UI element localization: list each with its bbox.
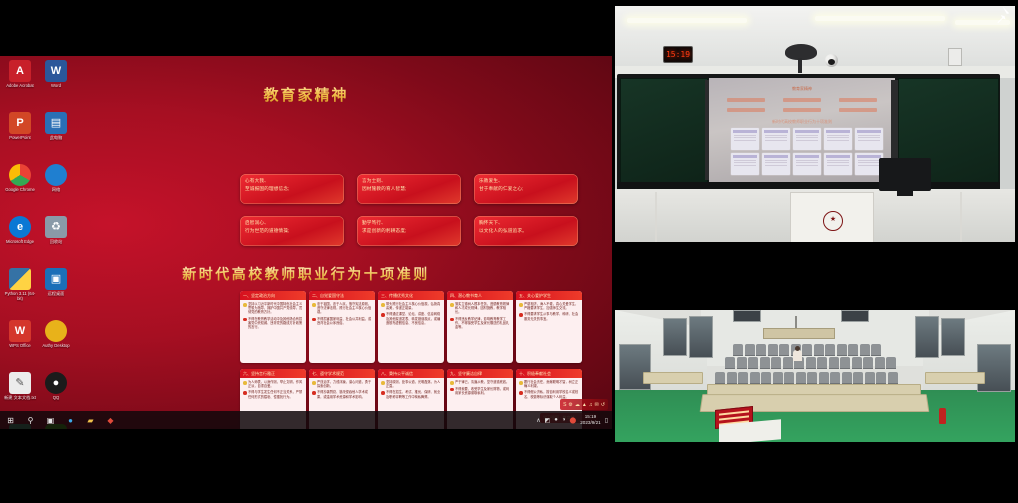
rule-text: 带头践行社会主义核心价值观，弘扬真善美，传递正能量。: [386, 302, 441, 310]
projected-rule-card: [762, 153, 790, 175]
edge-icon: e: [9, 216, 31, 238]
taskbar-left-group: ⊞ ⚲ ▣ ● ▰ ◆: [0, 415, 116, 426]
desktop-icon[interactable]: 网络: [39, 162, 73, 204]
tray-chevron-icon[interactable]: ∧: [536, 417, 540, 424]
projected-card: [783, 98, 821, 102]
remote-desktop-icon: ▣: [45, 268, 67, 290]
led-clock-time: 15:19: [666, 50, 690, 59]
spirit-line: 至诚报国的理想信念;: [245, 185, 339, 193]
rule-head: 一、坚定政治方向: [240, 291, 306, 300]
rule-text: 忠于祖国，忠于人民，恪守宪法原则，遵守法律法规，践行社会主义核心价值观。: [317, 302, 372, 315]
projected-card: [839, 98, 877, 102]
seat: [748, 357, 758, 368]
rule-head: 五、关心爱护学生: [516, 291, 582, 300]
seat: [886, 357, 896, 368]
chalkboard-left: [620, 78, 708, 185]
seat: [760, 357, 770, 368]
seat: [830, 372, 840, 383]
bullet-icon: [381, 303, 385, 307]
projected-rule-card: [762, 128, 790, 150]
spirit-line: 以文化人的弘道追求。: [479, 227, 573, 235]
seat: [768, 344, 778, 355]
rule-body: 落实立德树人根本任务，遵循教育规律和人才成长规律，因材施教，教学相长。 不得违反…: [447, 300, 513, 363]
bullet-icon: [519, 381, 523, 385]
icon-label: QQ: [39, 395, 73, 400]
led-wall-clock: 15:19: [663, 46, 693, 63]
authy-icon: [45, 320, 67, 342]
classroom-rear-scene: [615, 310, 1015, 442]
bullet-icon: [450, 388, 454, 392]
seat: [733, 344, 743, 355]
wall-pipe: [655, 192, 657, 242]
seat: [837, 344, 847, 355]
projected-title: 教育家精神: [709, 86, 895, 92]
icon-label: Word: [39, 83, 73, 88]
toolbar-icon-6[interactable]: ↺: [601, 402, 605, 408]
rule-head: 十、积极奉献社会: [516, 369, 582, 378]
seat: [829, 357, 839, 368]
rule-text: 不得与学生发生任何不正当关系，严禁任何形式的猥亵、性骚扰行为。: [248, 390, 303, 398]
spirit-line: 求是创新的躬耕态度;: [362, 227, 456, 235]
bullet-icon: [312, 318, 316, 322]
side-desk: [925, 372, 985, 384]
bullet-icon: [312, 391, 316, 395]
seat: [814, 344, 824, 355]
bullet-icon: [243, 303, 247, 307]
toolbar-icon-5[interactable]: ✉: [595, 402, 599, 408]
spirit-card: 言为士则、 因材施教的育人智慧;: [357, 174, 461, 204]
spirit-line: 启智润心、: [245, 219, 339, 227]
task-view-icon[interactable]: ▣: [45, 415, 56, 426]
wall-window: [663, 318, 687, 356]
projected-rule-card: [855, 128, 883, 150]
fire-extinguisher: [939, 408, 946, 424]
spirit-line: 因材施教的育人智慧;: [362, 185, 456, 193]
rule-text: 坚持原则，处事公道，光明磊落，为人正直。: [386, 380, 441, 388]
wps-office-icon: W: [9, 320, 31, 342]
seat: [848, 344, 858, 355]
rule-card: 三、传播优秀文化 带头践行社会主义核心价值观，弘扬真善美，传递正能量。 不得通过…: [378, 291, 444, 363]
rule-text: 不得索要、收受学生及家长财物，或利用家长资源谋取私利。: [455, 387, 510, 395]
wall-window: [915, 316, 939, 358]
file-explorer-icon[interactable]: ▰: [85, 415, 96, 426]
search-icon[interactable]: ⚲: [25, 415, 36, 426]
bullet-icon: [312, 303, 316, 307]
speaker-stem: [798, 58, 802, 73]
clock-date: 2023/9/21: [580, 420, 600, 426]
seat: [863, 357, 873, 368]
rule-text: 不得损害国家利益、社会公共利益，或违背社会公序良俗。: [317, 317, 372, 325]
spirit-line: 言为士则、: [362, 177, 456, 185]
desktop-icon[interactable]: eMicrosoft Edge: [3, 214, 37, 256]
bullet-icon: [312, 381, 316, 385]
seat: [888, 372, 898, 383]
icon-label: PowerPoint: [3, 135, 37, 140]
spirit-line: 勤学笃行、: [362, 219, 456, 227]
seat: [860, 344, 870, 355]
rule-body: 严慈相济，诲人不倦，真心关爱学生，严格要求学生，加强师生交流。 不得要求学生从事…: [516, 300, 582, 363]
lectern: ★: [790, 192, 874, 242]
seat: [852, 357, 862, 368]
projected-card: [727, 108, 765, 112]
icon-label: WPS Office: [3, 343, 37, 348]
bullet-icon: [450, 303, 454, 307]
seat: [819, 372, 829, 383]
recycle-bin-icon: ♻: [45, 216, 67, 238]
rule-head: 七、遵守学术规范: [309, 369, 375, 378]
wall-window: [689, 316, 713, 358]
spirit-card: 胸怀天下、 以文化人的弘道追求。: [474, 216, 578, 246]
bullet-icon: [381, 313, 385, 317]
rule-text: 不得假公济私，擅自利用学校名义或校名、校徽等标识谋取个人利益。: [524, 390, 579, 398]
rule-text: 严慈相济，诲人不倦，真心关爱学生，严格要求学生，加强师生交流。: [524, 302, 579, 310]
icon-label: 此电脑: [39, 135, 73, 140]
spirit-card: 心有大我、 至诚报国的理想信念;: [240, 174, 344, 204]
icon-label: Python 3.11 (64-bit): [3, 291, 37, 301]
projected-rule-card: [731, 153, 759, 175]
spirit-card: 勤学笃行、 求是创新的躬耕态度;: [357, 216, 461, 246]
projected-rule-card: [793, 128, 821, 150]
rule-card: 四、潜心教书育人 落实立德树人根本任务，遵循教育规律和人才成长规律，因材施教，教…: [447, 291, 513, 363]
bullet-icon: [450, 381, 454, 385]
wall-switch-panel: [948, 48, 962, 66]
bullet-icon: [519, 391, 523, 395]
pushpin-icon[interactable]: [991, 5, 1011, 25]
rule-text: 严谨治学，力戒浮躁，潜心问道，勇于探索创新。: [317, 380, 372, 388]
projection-screen: 教育家精神 新时代高校教师职业行为十项准则: [709, 78, 895, 183]
classroom-front-scene: 15:19 教育家精神 新时代高校: [615, 6, 1015, 242]
icon-label: Adobe Acrobat: [3, 83, 37, 88]
rule-card: 二、自觉爱国守法 忠于祖国，忠于人民，恪守宪法原则，遵守法律法规，践行社会主义核…: [309, 291, 375, 363]
toolbar-icon-4[interactable]: ♫: [589, 402, 593, 408]
edge-icon[interactable]: ●: [65, 415, 76, 426]
icon-label: 网络: [39, 187, 73, 192]
board-ledge: [617, 182, 1000, 189]
icon-label: 回收站: [39, 239, 73, 244]
teacher-desk: [763, 328, 835, 339]
projected-subtitle: 新时代高校教师职业行为十项准则: [709, 119, 895, 125]
powerpoint-icon: P: [9, 112, 31, 134]
icon-label: Microsoft Edge: [3, 239, 37, 244]
rule-text: 不得违反教学纪律，影响教育教学工作，不得接受学生及家长赠送的礼品礼金等。: [455, 317, 510, 330]
projected-rule-card: [824, 153, 852, 175]
rule-text: 不得抄袭剽窃、篡改侵吞他人学术成果，或滥用学术资源和学术影响。: [317, 390, 372, 398]
seat-row: [715, 372, 898, 383]
seat: [825, 344, 835, 355]
desktop-icon[interactable]: Python 3.11 (64-bit): [3, 266, 37, 308]
seat: [783, 357, 793, 368]
seat: [727, 372, 737, 383]
desktop-icon[interactable]: Authy Desktop: [39, 318, 73, 360]
icon-label: Google Chrome: [3, 187, 37, 192]
desktop-icon[interactable]: ▣远程桌面: [39, 266, 73, 308]
desktop-icon[interactable]: Google Chrome: [3, 162, 37, 204]
windows-desktop[interactable]: 教育家精神 心有大我、 至诚报国的理想信念; 言为士则、 因材施教的育人智慧; …: [0, 56, 612, 429]
monitoring-view: 教育家精神 心有大我、 至诚报国的理想信念; 言为士则、 因材施教的育人智慧; …: [0, 0, 1018, 503]
seat: [784, 372, 794, 383]
toolbar-icon-3[interactable]: ▲: [582, 402, 587, 408]
bullet-icon: [381, 391, 385, 395]
seat: [840, 357, 850, 368]
seat: [779, 344, 789, 355]
seat: [715, 372, 725, 383]
spirit-card-grid: 心有大我、 至诚报国的理想信念; 言为士则、 因材施教的育人智慧; 乐教爱生、 …: [240, 174, 578, 246]
seat: [796, 372, 806, 383]
projected-card: [727, 98, 765, 102]
ceiling-camera-icon: [825, 54, 838, 67]
taskbar-system-tray[interactable]: ∧ ◩ ● ◑ ⬤ 15:19 2023/9/21 ▯ S ⚙ ☁ ▲: [536, 414, 612, 426]
spirit-line: 胸怀天下、: [479, 219, 573, 227]
rule-card: 一、坚定政治方向 坚持以习近平新时代中国特色社会主义思想为指导，拥护中国共产党领…: [240, 291, 306, 363]
seat: [761, 372, 771, 383]
desktop-icon[interactable]: ♻回收站: [39, 214, 73, 256]
seat-row: [725, 357, 896, 368]
spirit-card: 启智润心、 行为世范的道德情操;: [240, 216, 344, 246]
rule-text: 不得在教育教学活动中及其他场合有损害党中央权威、违背党的路线方针政策的言行。: [248, 317, 303, 330]
classroom-front-camera[interactable]: 15:19 教育家精神 新时代高校: [612, 0, 1018, 246]
seat: [773, 372, 783, 383]
tray-volume-icon[interactable]: ●: [554, 417, 558, 423]
desktop-stream-pane: 教育家精神 心有大我、 至诚报国的理想信念; 言为士则、 因材施教的育人智慧; …: [0, 0, 612, 503]
start-button[interactable]: ⊞: [5, 415, 16, 426]
slide-title: 教育家精神: [0, 84, 612, 105]
icon-label: Authy Desktop: [39, 343, 73, 348]
rule-head: 四、潜心教书育人: [447, 291, 513, 300]
projected-card: [839, 108, 877, 112]
seat: [802, 344, 812, 355]
rule-text: 严于律己，清廉从教，坚守道德底线。: [455, 380, 509, 385]
windows-taskbar[interactable]: ⊞ ⚲ ▣ ● ▰ ◆ ∧ ◩ ● ◑ ⬤ 15:19 2023/9/21: [0, 411, 612, 429]
tray-app-icon[interactable]: ◑: [562, 417, 566, 423]
spirit-card: 乐教爱生、 甘于奉献的仁爱之心;: [474, 174, 578, 204]
projected-rule-card: [824, 128, 852, 150]
seat: [853, 372, 863, 383]
ceiling-light: [627, 18, 747, 23]
side-desk: [643, 372, 703, 384]
rule-card: 五、关心爱护学生 严慈相济，诲人不倦，真心关爱学生，严格要求学生，加强师生交流。…: [516, 291, 582, 363]
wall-window: [941, 318, 965, 356]
desktop-icon[interactable]: PPowerPoint: [3, 110, 37, 152]
blackboard-assembly: 教育家精神 新时代高校教师职业行为十项准则: [617, 74, 1000, 187]
podium-monitor: [879, 158, 931, 191]
seat: [876, 372, 886, 383]
bullet-icon: [243, 381, 247, 385]
rule-head: 九、坚守廉洁自律: [447, 369, 513, 378]
ceiling-panel: [733, 310, 761, 322]
bullet-icon: [519, 313, 523, 317]
tray-red-icon[interactable]: ⬤: [570, 417, 577, 424]
floating-toolbar[interactable]: S ⚙ ☁ ▲ ♫ ✉ ↺: [560, 399, 608, 410]
seat: [737, 357, 747, 368]
projected-slide: 教育家精神 新时代高校教师职业行为十项准则: [709, 78, 895, 183]
desktop-icon-grid[interactable]: AAdobe Acrobat WWord PPowerPoint ▤此电脑 Go…: [2, 58, 74, 429]
projected-card: [783, 108, 821, 112]
desktop-icon[interactable]: ▤此电脑: [39, 110, 73, 152]
text-file-icon: ✎: [9, 372, 31, 394]
bullet-icon: [243, 391, 247, 395]
tray-network-icon[interactable]: ◩: [545, 417, 551, 424]
toolbar-icon-2[interactable]: ☁: [575, 402, 580, 408]
bullet-icon: [519, 303, 523, 307]
rule-body: 带头践行社会主义核心价值观，弘扬真善美，传递正能量。 不得通过课堂、论坛、讲座、…: [378, 300, 444, 363]
seat: [842, 372, 852, 383]
seat: [771, 357, 781, 368]
spirit-line: 乐教爱生、: [479, 177, 573, 185]
projected-rule-card: [731, 128, 759, 150]
rule-text: 不得在招生、考试、推优、保研、就业及职称评聘等工作中徇私舞弊。: [386, 390, 441, 398]
icon-label: 远程桌面: [39, 291, 73, 296]
rule-body: 坚持以习近平新时代中国特色社会主义思想为指导，拥护中国共产党领导，贯彻党的教育方…: [240, 300, 306, 363]
ceiling-light: [815, 16, 945, 21]
desktop-icon[interactable]: WWPS Office: [3, 318, 37, 360]
seat: [817, 357, 827, 368]
rule-head: 六、坚持言行雅正: [240, 369, 306, 378]
toolbar-icon-1[interactable]: ⚙: [568, 402, 572, 408]
rule-text: 不得通过课堂、论坛、讲座、信息网络及其他渠道发表、转发错误观点，或编造散布虚假信…: [386, 312, 441, 325]
spirit-line: 甘于奉献的仁爱之心;: [479, 185, 573, 193]
icon-label: 新建 文本文档.txt: [3, 395, 37, 400]
bullet-icon: [381, 381, 385, 385]
desktop-icon[interactable]: AAdobe Acrobat: [3, 58, 37, 100]
spirit-line: 心有大我、: [245, 177, 339, 185]
word-icon: W: [45, 60, 67, 82]
seat: [738, 372, 748, 383]
rule-head: 二、自觉爱国守法: [309, 291, 375, 300]
rule-text: 履行社会责任，贡献聪明才智，树立正确义利观。: [524, 380, 579, 388]
seated-person: [793, 350, 802, 361]
taskbar-clock[interactable]: 15:19 2023/9/21: [580, 414, 600, 426]
bullet-icon: [243, 318, 247, 322]
desktop-icon[interactable]: ●QQ: [39, 370, 73, 412]
seat: [865, 372, 875, 383]
spirit-line: 行为世范的道德情操;: [245, 227, 339, 235]
chrome-icon: [9, 164, 31, 186]
wall-pipe: [960, 192, 962, 242]
desktop-icon[interactable]: WWord: [39, 58, 73, 100]
classroom-rear-camera[interactable]: [612, 250, 1018, 503]
slide-section-title: 新时代高校教师职业行为十项准则: [0, 264, 612, 284]
presentation-slide: 教育家精神 心有大我、 至诚报国的理想信念; 言为士则、 因材施教的育人智慧; …: [0, 56, 612, 429]
network-icon: [45, 164, 67, 186]
seat: [745, 344, 755, 355]
seat: [725, 357, 735, 368]
rule-text: 为人师表，以身作则，举止文明，作风正派，自重自爱。: [248, 380, 303, 388]
acrobat-icon: A: [9, 60, 31, 82]
seat: [871, 344, 881, 355]
ceiling-panel: [841, 310, 869, 322]
desktop-icon[interactable]: ✎新建 文本文档.txt: [3, 370, 37, 412]
seat: [806, 357, 816, 368]
rule-head: 三、传播优秀文化: [378, 291, 444, 300]
action-center-icon[interactable]: ▯: [605, 417, 608, 424]
seat: [750, 372, 760, 383]
seat: [756, 344, 766, 355]
python-icon: [9, 268, 31, 290]
projected-rule-card: [793, 153, 821, 175]
rule-text: 不得要求学生从事与教学、科研、社会服务无关的事宜。: [524, 312, 579, 320]
qq-icon: ●: [45, 372, 67, 394]
rule-head: 八、秉持公平诚信: [378, 369, 444, 378]
pinned-app-icon[interactable]: ◆: [105, 415, 116, 426]
seat: [875, 357, 885, 368]
rule-text: 落实立德树人根本任务，遵循教育规律和人才成长规律，因材施教，教学相长。: [455, 302, 510, 315]
bullet-icon: [450, 318, 454, 322]
rules-grid-row1: 一、坚定政治方向 坚持以习近平新时代中国特色社会主义思想为指导，拥护中国共产党领…: [240, 291, 580, 363]
seat: [807, 372, 817, 383]
toolbar-icon-0[interactable]: S: [563, 402, 566, 408]
projected-rule-cards: [731, 128, 883, 175]
rule-text: 坚持以习近平新时代中国特色社会主义思想为指导，拥护中国共产党领导，贯彻党的教育方…: [248, 302, 303, 315]
wall-window: [977, 344, 1011, 392]
this-pc-icon: ▤: [45, 112, 67, 134]
school-emblem-icon: ★: [823, 211, 843, 231]
rule-body: 忠于祖国，忠于人民，恪守宪法原则，遵守法律法规，践行社会主义核心价值观。 不得损…: [309, 300, 375, 363]
seat-row: [733, 344, 881, 355]
